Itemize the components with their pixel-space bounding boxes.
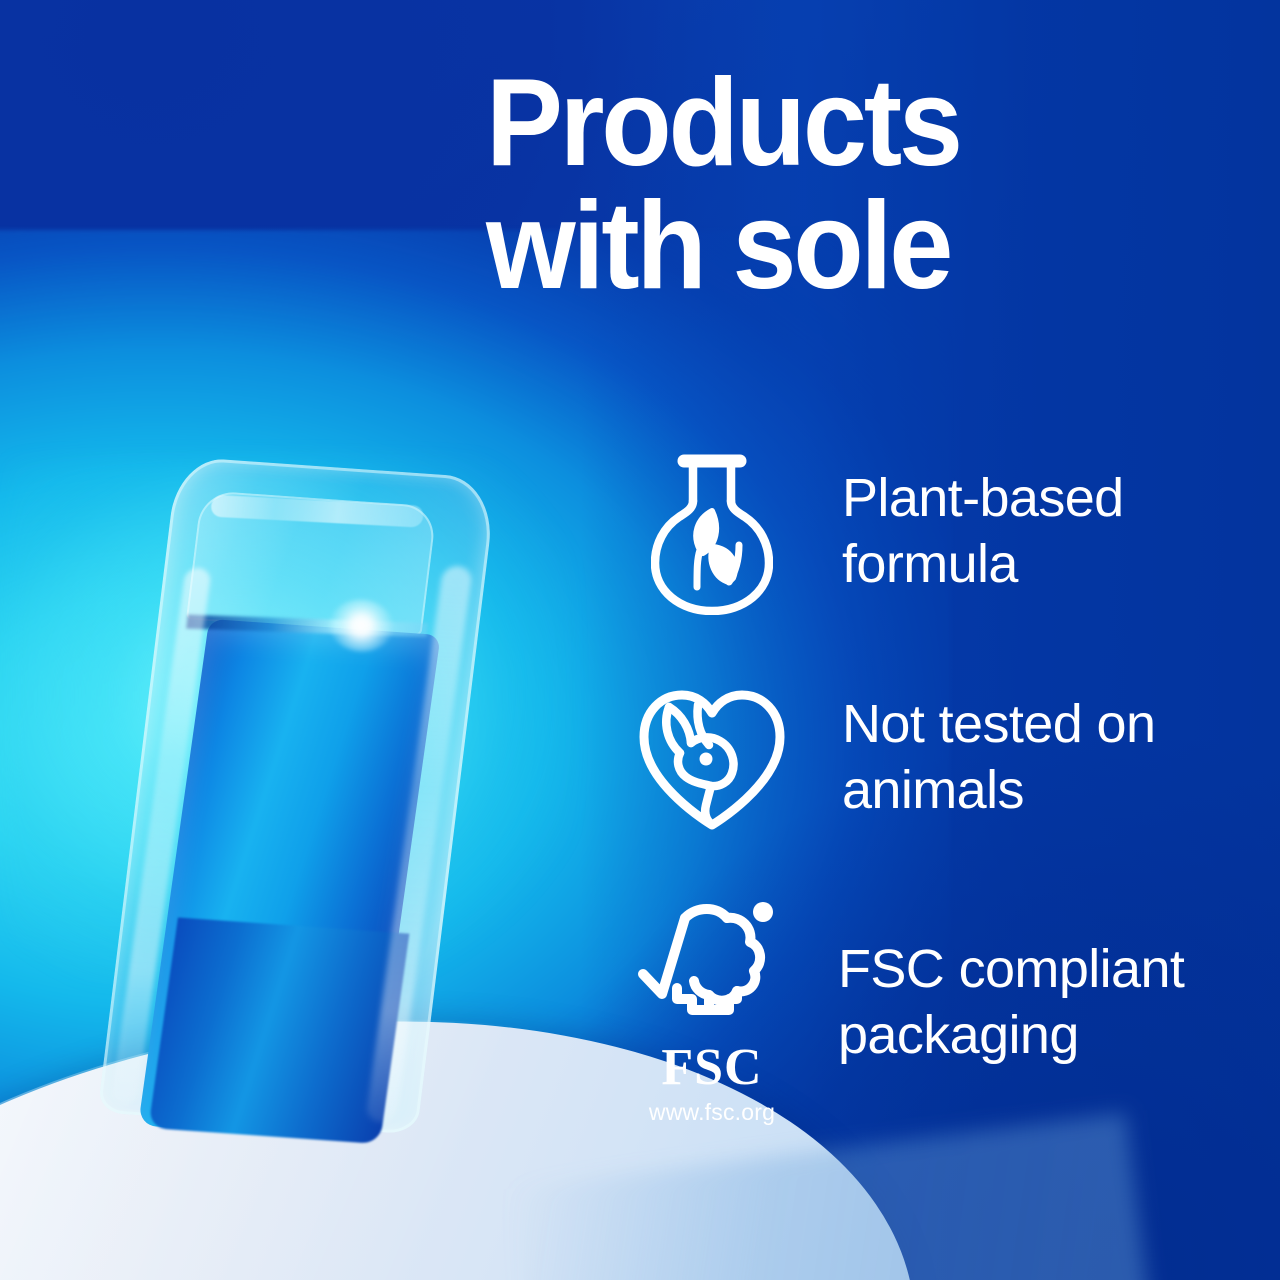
benefit-list: Plant-based formula (628, 446, 1228, 1108)
benefit-label-line-2: animals (842, 760, 1024, 820)
headline-line-2: with sole (486, 185, 1137, 308)
headline-line-1: Products (486, 62, 1137, 185)
benefit-label-plant-based: Plant-based formula (796, 466, 1228, 598)
fsc-url: www.fsc.org (649, 1101, 775, 1124)
plant-flask-icon (628, 446, 796, 618)
bunny-heart-icon (628, 672, 796, 844)
product-sachet (32, 439, 549, 1160)
benefit-label-line-1: Not tested on (842, 694, 1155, 754)
fsc-logo-icon: FSC www.fsc.org (628, 898, 796, 1108)
benefit-item-cruelty-free: Not tested on animals (628, 672, 1228, 844)
benefit-label-cruelty-free: Not tested on animals (796, 692, 1228, 824)
benefit-label-line-2: packaging (838, 1005, 1079, 1065)
benefit-item-fsc: FSC www.fsc.org FSC compliant packaging (628, 898, 1228, 1108)
benefit-item-plant-based: Plant-based formula (628, 446, 1228, 618)
benefit-label-line-1: Plant-based (842, 468, 1124, 528)
fsc-tree-checkmark-mark (637, 898, 787, 1040)
headline: Products with sole (486, 62, 1137, 308)
benefit-label-line-1: FSC compliant (838, 939, 1184, 999)
benefit-label-line-2: formula (842, 534, 1018, 594)
fsc-wordmark: FSC (661, 1042, 762, 1094)
benefit-label-fsc: FSC compliant packaging (796, 937, 1228, 1069)
fsc-logo: FSC www.fsc.org (628, 898, 796, 1124)
promo-creative: Products with sole (0, 0, 1280, 1280)
